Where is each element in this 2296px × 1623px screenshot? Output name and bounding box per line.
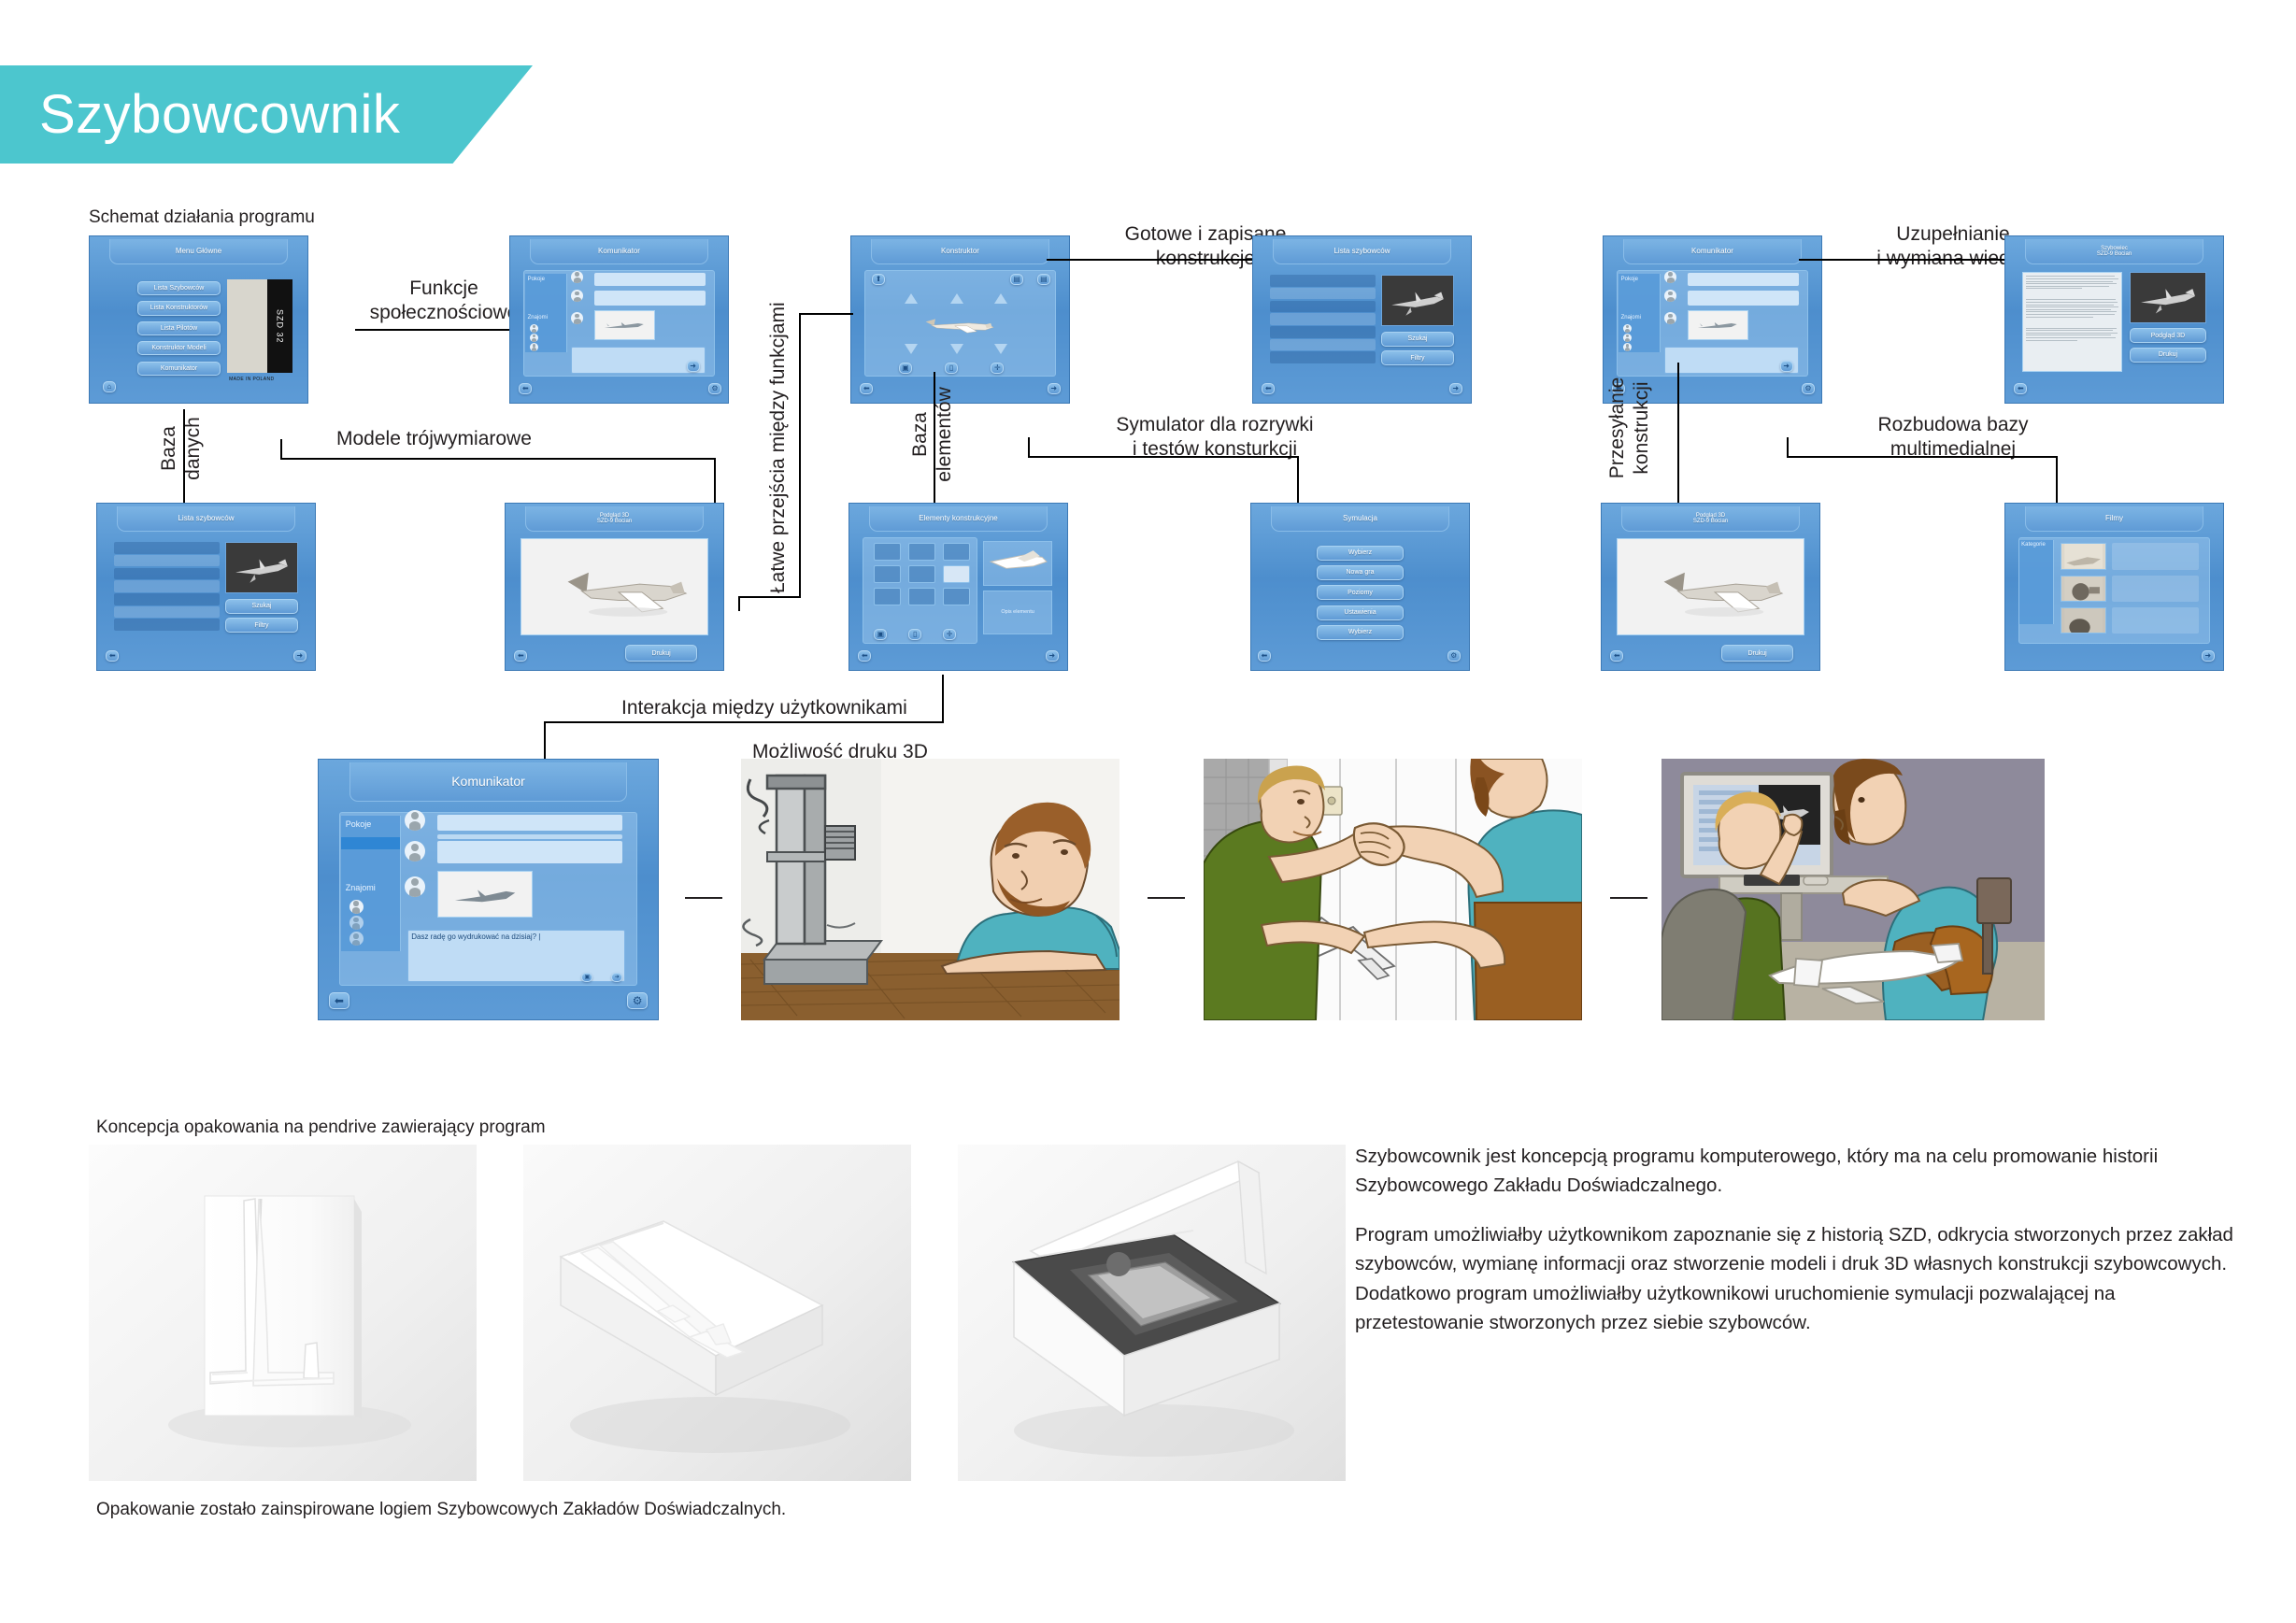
element-tile[interactable] bbox=[943, 588, 970, 605]
screen-title-l1: Szybowiec bbox=[2101, 246, 2128, 251]
back-icon[interactable]: ⬅ bbox=[2014, 383, 2027, 394]
glider-photo-icon bbox=[2061, 544, 2105, 568]
glider-wing-icon bbox=[984, 542, 1051, 585]
screen-title: Lista szybowców bbox=[1273, 239, 1451, 264]
chat-input[interactable] bbox=[571, 347, 706, 375]
flow-rule-baza-danych bbox=[183, 409, 185, 507]
list-item[interactable] bbox=[1270, 313, 1376, 325]
szd-logo: SZD 32 bbox=[227, 279, 292, 373]
chat-bubble bbox=[437, 815, 622, 831]
avatar[interactable] bbox=[349, 900, 364, 914]
photo-icon bbox=[2061, 608, 2105, 633]
sim-button-4[interactable]: Ustawienia bbox=[1317, 605, 1404, 620]
flow-rule-gotowe bbox=[1047, 259, 1254, 261]
chat-bubble bbox=[1688, 273, 1799, 286]
chat-message-input[interactable]: Dasz radę go wydrukować na dzisiaj? | bbox=[407, 930, 625, 982]
screen-title: Komunikator bbox=[1623, 239, 1802, 264]
avatar bbox=[1623, 334, 1632, 342]
screen-title: Symulacja bbox=[1271, 506, 1449, 532]
flow-rule-latwe-a bbox=[799, 313, 801, 598]
element-tile[interactable] bbox=[908, 588, 935, 605]
model-viewport[interactable] bbox=[1617, 538, 1804, 634]
gear-icon[interactable]: ⚙ bbox=[1802, 383, 1815, 394]
description-paragraph-1: Szybowcownik jest koncepcją programu kom… bbox=[1355, 1142, 2233, 1200]
element-description: Opis elementu bbox=[983, 591, 1052, 635]
packaging-photo-closed bbox=[523, 1145, 911, 1481]
screen-title: SzybowiecSZD-9 Bocian bbox=[2025, 239, 2203, 264]
chat-sidebar-label-pokoje: Pokoje bbox=[346, 819, 372, 829]
video-thumbnail[interactable] bbox=[2061, 607, 2106, 634]
glider-icon bbox=[1689, 311, 1748, 339]
video-thumbnail[interactable] bbox=[2061, 576, 2106, 602]
flow-rule-funkcje bbox=[355, 329, 533, 331]
flow-label-baza-danych: Baza danych bbox=[157, 402, 207, 495]
flow-rule-interakcja-c bbox=[544, 721, 546, 759]
list-item[interactable] bbox=[114, 542, 220, 554]
list-item[interactable] bbox=[114, 580, 220, 592]
flow-rule-symulator-b bbox=[1028, 456, 1299, 458]
gear-icon[interactable]: ⚙ bbox=[708, 383, 721, 394]
flow-rule-uzupelnianie bbox=[1799, 259, 2006, 261]
chat-sidebar-label-znajomi: Znajomi bbox=[528, 315, 548, 320]
chat-image-attachment[interactable] bbox=[437, 871, 533, 918]
element-tile[interactable] bbox=[874, 543, 901, 560]
list-item[interactable] bbox=[114, 606, 220, 619]
description-paragraph-2: Program umożliwiałby użytkownikom zapozn… bbox=[1355, 1220, 2233, 1337]
flow-label-rozbudowa: Rozbudowa bazy multimedialnej bbox=[1846, 413, 2061, 463]
filmy-categories-sidebar[interactable]: Kategorie bbox=[2019, 540, 2054, 624]
flow-rule-latwe-d bbox=[738, 596, 740, 611]
back-icon[interactable]: ⬅ bbox=[1610, 650, 1623, 662]
screen-title: Komunikator bbox=[349, 762, 628, 802]
glider-icon bbox=[2131, 273, 2205, 322]
flow-label-przesylanie-l2: konstrukcji bbox=[1631, 381, 1652, 474]
flow-label-modele: Modele trójwymiarowe bbox=[336, 427, 532, 451]
screen-title-l2: SZD-9 Bocian bbox=[2097, 251, 2132, 257]
upload-icon[interactable]: ⬆ bbox=[872, 274, 885, 285]
avatar bbox=[530, 343, 538, 351]
screen-title-l2: SZD-9 Bocian bbox=[1693, 519, 1728, 524]
arrow-up-icon[interactable] bbox=[950, 293, 963, 304]
arrow-down-icon[interactable] bbox=[950, 344, 963, 354]
print-button[interactable]: Drukuj bbox=[625, 645, 697, 662]
screen-lista-szybowcow-top[interactable]: Lista szybowców Szukaj Filtry ⬅ ➜ bbox=[1252, 235, 1472, 404]
arrow-up-icon[interactable] bbox=[905, 293, 918, 304]
avatar bbox=[1664, 271, 1676, 283]
filmy-sidebar-label: Kategorie bbox=[2021, 542, 2046, 548]
glider-model-preview bbox=[899, 312, 1021, 340]
flow-label-baza-elementow-l1: Baza bbox=[909, 412, 931, 457]
flow-label-interakcja: Interakcja między użytkownikami bbox=[621, 696, 907, 720]
sim-button-2[interactable]: Nowa gra bbox=[1317, 565, 1404, 580]
screen-title-l2: SZD-9 Bocian bbox=[597, 519, 632, 524]
search-button[interactable]: Szukaj bbox=[225, 599, 298, 614]
video-title-row[interactable] bbox=[2112, 543, 2198, 569]
screen-title: Komunikator bbox=[530, 239, 708, 264]
sim-button-1[interactable]: Wybierz bbox=[1317, 546, 1404, 561]
chat-image-attachment bbox=[594, 310, 656, 340]
video-title-row[interactable] bbox=[2112, 607, 2198, 634]
chat-bubble bbox=[437, 834, 622, 840]
screen-title: Podgląd 3DSZD-9 Bocian bbox=[1621, 506, 1800, 532]
screen-szybowiec-detail[interactable]: SzybowiecSZD-9 Bocian Podgląd 3D Drukuj … bbox=[2004, 235, 2224, 404]
packaging-caption: Opakowanie zostało zainspirowane logiem … bbox=[96, 1500, 786, 1520]
print-button[interactable]: Drukuj bbox=[1721, 645, 1793, 662]
element-tile[interactable] bbox=[874, 588, 901, 605]
flow-connector bbox=[1610, 897, 1647, 899]
flow-label-baza-danych-l2: danych bbox=[182, 417, 204, 480]
video-thumbnail[interactable] bbox=[2061, 543, 2106, 569]
list-item[interactable] bbox=[114, 568, 220, 580]
flow-rule-interakcja-b bbox=[544, 721, 944, 723]
back-icon[interactable]: ⬅ bbox=[1258, 650, 1271, 662]
element-preview bbox=[983, 541, 1052, 586]
glider-thumbnail bbox=[225, 542, 298, 593]
flow-label-uzupelnianie-l1: Uzupełnianie bbox=[1896, 223, 2009, 245]
glider-icon bbox=[521, 539, 706, 634]
list-item[interactable] bbox=[1270, 339, 1376, 351]
element-tile-selected[interactable] bbox=[943, 565, 970, 582]
flow-rule-modele-c bbox=[714, 458, 716, 505]
chat-sidebar[interactable]: Pokoje Znajomi bbox=[525, 274, 567, 353]
send-icon[interactable]: ➜ bbox=[687, 361, 700, 372]
chat-sidebar-label-pokoje: Pokoje bbox=[1621, 277, 1638, 282]
screen-konstruktor[interactable]: Konstruktor ⬆ ▤ ▤ ▣ ▯ ✛ ⬅ ➜ bbox=[850, 235, 1070, 404]
article-text bbox=[2022, 272, 2122, 372]
sim-button-3[interactable]: Poziomy bbox=[1317, 585, 1404, 600]
packaging-photo-front bbox=[89, 1145, 477, 1481]
glider-icon bbox=[1382, 276, 1453, 325]
screen-elementy-konstrukcyjne[interactable]: Elementy konstrukcyjne ▣ ▯ ✛ Opis elemen… bbox=[849, 503, 1068, 671]
chat-bubble bbox=[594, 291, 706, 306]
screen-lista-szybowcow-bottom[interactable]: Lista szybowców Szukaj Filtry ⬅ ➜ bbox=[96, 503, 316, 671]
glider-icon bbox=[438, 872, 532, 917]
screen-menu-glowne[interactable]: Menu Główne Lista Szybowców Lista Konstr… bbox=[89, 235, 308, 404]
model-viewport[interactable] bbox=[521, 538, 707, 634]
screen-symulacja[interactable]: Symulacja Wybierz Nowa gra Poziomy Ustaw… bbox=[1250, 503, 1470, 671]
chat-sidebar[interactable]: Pokoje Znajomi bbox=[341, 816, 401, 951]
avatar[interactable] bbox=[349, 932, 364, 946]
print-button[interactable]: Drukuj bbox=[2130, 348, 2206, 363]
list-item[interactable] bbox=[1270, 326, 1376, 338]
screen-title-l1: Podgląd 3D bbox=[1696, 513, 1725, 519]
element-tool-icon[interactable]: ▣ bbox=[899, 363, 912, 374]
chat-bubble bbox=[437, 841, 622, 863]
flow-rule-rozbudowa-c bbox=[2056, 456, 2058, 503]
element-tile[interactable] bbox=[874, 565, 901, 582]
gear-icon[interactable]: ⚙ bbox=[1447, 650, 1461, 662]
flow-label-przesylanie: Przesyłanie konstrukcji bbox=[1605, 372, 1655, 484]
flow-label-funkcje-l1: Funkcje bbox=[409, 278, 478, 299]
gear-icon[interactable]: ⚙ bbox=[627, 992, 648, 1009]
screen-title: Filmy bbox=[2025, 506, 2203, 532]
flow-label-funkcje-l2: społecznościowe bbox=[370, 302, 519, 323]
packaging-section-heading: Koncepcja opakowania na pendrive zawiera… bbox=[96, 1118, 546, 1138]
avatar bbox=[530, 334, 538, 342]
avatar[interactable] bbox=[349, 916, 364, 930]
chat-bubble bbox=[594, 273, 706, 286]
save-icon[interactable]: ▤ bbox=[1010, 274, 1023, 285]
list-item[interactable] bbox=[114, 593, 220, 605]
menu-button-lista-konstruktorow[interactable]: Lista Konstruktorów bbox=[137, 301, 221, 315]
back-icon[interactable]: ⬅ bbox=[1262, 383, 1275, 394]
chat-sidebar[interactable]: Pokoje Znajomi bbox=[1619, 274, 1661, 353]
flow-label-funkcje: Funkcje społecznościowe bbox=[360, 277, 528, 326]
element-tile[interactable] bbox=[943, 543, 970, 560]
screen-podglad-3d-left[interactable]: Podgląd 3DSZD-9 Bocian Drukuj ⬅ bbox=[505, 503, 724, 671]
glider-thumbnail bbox=[2130, 272, 2206, 323]
flow-rule-modele-b bbox=[280, 458, 716, 460]
screen-komunikator-large[interactable]: Komunikator Pokoje Znajomi Dasz radę go … bbox=[318, 759, 659, 1020]
list-item[interactable] bbox=[1270, 288, 1376, 300]
flow-rule-baza-elementow bbox=[934, 372, 935, 512]
avatar bbox=[1623, 343, 1632, 351]
element-tool-icon[interactable]: ▯ bbox=[945, 363, 958, 374]
screen-title: Menu Główne bbox=[109, 239, 288, 264]
glider-icon bbox=[226, 543, 297, 592]
filters-button[interactable]: Filtry bbox=[225, 618, 298, 633]
screen-title: Elementy konstrukcyjne bbox=[869, 506, 1048, 532]
back-icon[interactable]: ⬅ bbox=[514, 650, 527, 662]
szd-logo-text: SZD 32 bbox=[267, 279, 292, 373]
menu-button-konstruktor-modeli[interactable]: Konstruktor Modeli bbox=[137, 341, 221, 355]
back-icon[interactable]: ⌂ bbox=[103, 381, 116, 392]
glider-icon bbox=[899, 312, 1021, 340]
forward-icon[interactable]: ➜ bbox=[1048, 383, 1061, 394]
description-block: Szybowcownik jest koncepcją programu kom… bbox=[1355, 1142, 2233, 1358]
flow-section-heading: Schemat działania programu bbox=[89, 207, 315, 228]
szd-logo-caption: MADE IN POLAND bbox=[229, 377, 274, 382]
flow-rule-latwe-b bbox=[799, 313, 853, 315]
glider-icon bbox=[595, 311, 655, 339]
flow-label-baza-elementow-l2: elementów bbox=[934, 387, 955, 482]
chat-input[interactable] bbox=[1664, 347, 1799, 375]
list-item[interactable] bbox=[114, 619, 220, 631]
screen-title-l1: Podgląd 3D bbox=[600, 513, 629, 519]
search-button[interactable]: Szukaj bbox=[1381, 332, 1454, 347]
back-icon[interactable]: ⬅ bbox=[519, 383, 532, 394]
element-tool-icon[interactable]: ▣ bbox=[874, 629, 887, 640]
flow-rule-rozbudowa-b bbox=[1787, 456, 2058, 458]
flow-label-latwe: Łatwe przejścia między funkcjami bbox=[766, 302, 791, 593]
packaging-photo-open bbox=[958, 1145, 1346, 1481]
flow-rule-modele-a bbox=[280, 439, 282, 460]
send-icon[interactable]: ➜ bbox=[1780, 361, 1793, 372]
list-item[interactable] bbox=[1270, 351, 1376, 363]
forward-icon[interactable]: ➜ bbox=[293, 650, 307, 662]
video-title-row[interactable] bbox=[2112, 576, 2198, 602]
element-add-icon[interactable]: ✛ bbox=[991, 363, 1004, 374]
flow-rule-przesylanie bbox=[1677, 363, 1679, 517]
list-item[interactable] bbox=[114, 555, 220, 567]
pilot-photo-icon bbox=[2061, 577, 2105, 601]
chat-room-selected[interactable] bbox=[341, 837, 400, 849]
back-icon[interactable]: ⬅ bbox=[860, 383, 873, 394]
glider-thumbnail bbox=[1381, 275, 1454, 326]
avatar bbox=[571, 271, 583, 283]
menu-button-lista-pilotow[interactable]: Lista Pilotów bbox=[137, 321, 221, 335]
flow-rule-symulator-a bbox=[1028, 437, 1030, 458]
arrow-down-icon[interactable] bbox=[905, 344, 918, 354]
flow-label-baza-danych-l1: Baza bbox=[158, 426, 179, 471]
open-icon[interactable]: ▤ bbox=[1037, 274, 1050, 285]
flow-rule-latwe-c bbox=[738, 596, 800, 598]
chat-sidebar-label-pokoje: Pokoje bbox=[528, 277, 545, 282]
flow-label-symulator: Symulator dla rozrywki i testów konsturk… bbox=[1084, 413, 1346, 463]
arrow-down-icon[interactable] bbox=[994, 344, 1007, 354]
forward-icon[interactable]: ➜ bbox=[2202, 650, 2215, 662]
avatar bbox=[530, 324, 538, 333]
list-item[interactable] bbox=[1270, 275, 1376, 287]
avatar bbox=[405, 876, 425, 897]
title-banner: Szybowcownik bbox=[0, 65, 533, 164]
element-tool-icon[interactable]: ▯ bbox=[908, 629, 921, 640]
chat-bubble bbox=[1688, 291, 1799, 306]
flow-label-symulator-l1: Symulator dla rozrywki bbox=[1116, 414, 1313, 435]
avatar bbox=[405, 810, 425, 831]
avatar bbox=[1623, 324, 1632, 333]
screen-title: Konstruktor bbox=[871, 239, 1049, 264]
screen-podglad-3d-right[interactable]: Podgląd 3DSZD-9 Bocian Drukuj ⬅ bbox=[1601, 503, 1820, 671]
back-icon[interactable]: ⬅ bbox=[858, 650, 871, 662]
list-item[interactable] bbox=[1270, 301, 1376, 313]
back-icon[interactable]: ⬅ bbox=[106, 650, 119, 662]
element-tile[interactable] bbox=[908, 543, 935, 560]
element-add-icon[interactable]: ✛ bbox=[943, 629, 956, 640]
screen-komunikator-top[interactable]: Komunikator Pokoje Znajomi ➜ ⬅ ⚙ bbox=[509, 235, 729, 404]
chat-image-attachment bbox=[1688, 310, 1749, 340]
back-icon[interactable]: ⬅ bbox=[329, 992, 349, 1009]
illustration-3d-printer bbox=[741, 759, 1119, 1020]
sim-button-5[interactable]: Wybierz bbox=[1317, 625, 1404, 640]
element-tile[interactable] bbox=[908, 565, 935, 582]
filters-button[interactable]: Filtry bbox=[1381, 350, 1454, 365]
flow-rule-rozbudowa-a bbox=[1787, 437, 1789, 458]
forward-icon[interactable]: ➜ bbox=[1046, 650, 1059, 662]
preview-3d-button[interactable]: Podgląd 3D bbox=[2130, 328, 2206, 343]
flow-connector bbox=[1148, 897, 1185, 899]
flow-label-przesylanie-l1: Przesyłanie bbox=[1606, 377, 1628, 479]
screen-title: Lista szybowców bbox=[117, 506, 295, 532]
flow-rule-interakcja-a bbox=[942, 675, 944, 723]
flow-connector bbox=[685, 897, 722, 899]
illustration-computer-pair bbox=[1661, 759, 2045, 1020]
chat-sidebar-label-znajomi: Znajomi bbox=[346, 883, 376, 892]
chat-sidebar-label-znajomi: Znajomi bbox=[1621, 315, 1641, 320]
page-title: Szybowcownik bbox=[39, 88, 400, 142]
flow-rule-symulator-c bbox=[1297, 456, 1299, 503]
forward-icon[interactable]: ➜ bbox=[1449, 383, 1462, 394]
flow-label-rozbudowa-l1: Rozbudowa bazy bbox=[1877, 414, 2028, 435]
arrow-up-icon[interactable] bbox=[994, 293, 1007, 304]
menu-button-komunikator[interactable]: Komunikator bbox=[137, 362, 221, 376]
screen-title: Podgląd 3DSZD-9 Bocian bbox=[525, 506, 704, 532]
illustration-handshake bbox=[1204, 759, 1582, 1020]
screen-filmy[interactable]: Filmy Kategorie ➜ bbox=[2004, 503, 2224, 671]
menu-button-lista-szybowcow[interactable]: Lista Szybowców bbox=[137, 281, 221, 295]
glider-icon bbox=[1618, 539, 1803, 634]
